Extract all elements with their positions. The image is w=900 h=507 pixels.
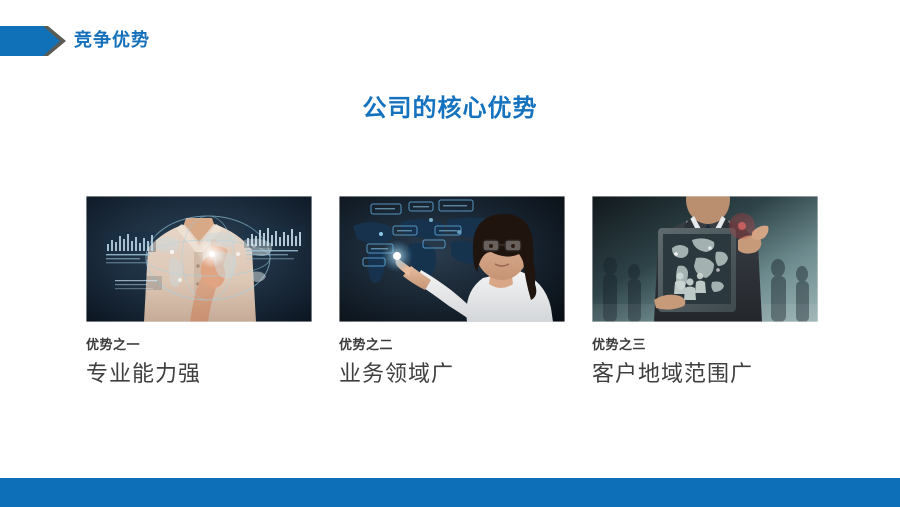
advantage-card-2-text: 业务领域广 <box>339 362 565 387</box>
advantage-card-1-text: 专业能力强 <box>86 362 312 387</box>
man-touching-holographic-world-map-photo <box>86 196 312 322</box>
slide-canvas: 竞争优势 公司的核心优势 <box>0 0 900 507</box>
footer-accent-bar <box>0 478 900 507</box>
advantage-card-3-heading: 优势之三 <box>592 338 818 354</box>
page-title: 公司的核心优势 <box>0 88 900 123</box>
card-3-illustration <box>592 196 818 322</box>
advantage-card-3-text: 客户地域范围广 <box>592 362 818 387</box>
card-2-illustration <box>339 196 565 322</box>
advantage-card-2-heading: 优势之二 <box>339 338 565 354</box>
woman-touching-blue-world-map-photo <box>339 196 565 322</box>
businessman-holding-tablet-map-photo <box>592 196 818 322</box>
advantage-card-list: 优势之一 专业能力强 <box>86 196 818 387</box>
advantage-card-1-heading: 优势之一 <box>86 338 312 354</box>
header-banner: 竞争优势 <box>0 26 250 56</box>
advantage-card-2: 优势之二 业务领域广 <box>339 196 565 387</box>
advantage-card-1: 优势之一 专业能力强 <box>86 196 312 387</box>
card-1-illustration <box>86 196 312 322</box>
section-label: 竞争优势 <box>74 26 150 56</box>
advantage-card-3: 优势之三 客户地域范围广 <box>592 196 818 387</box>
